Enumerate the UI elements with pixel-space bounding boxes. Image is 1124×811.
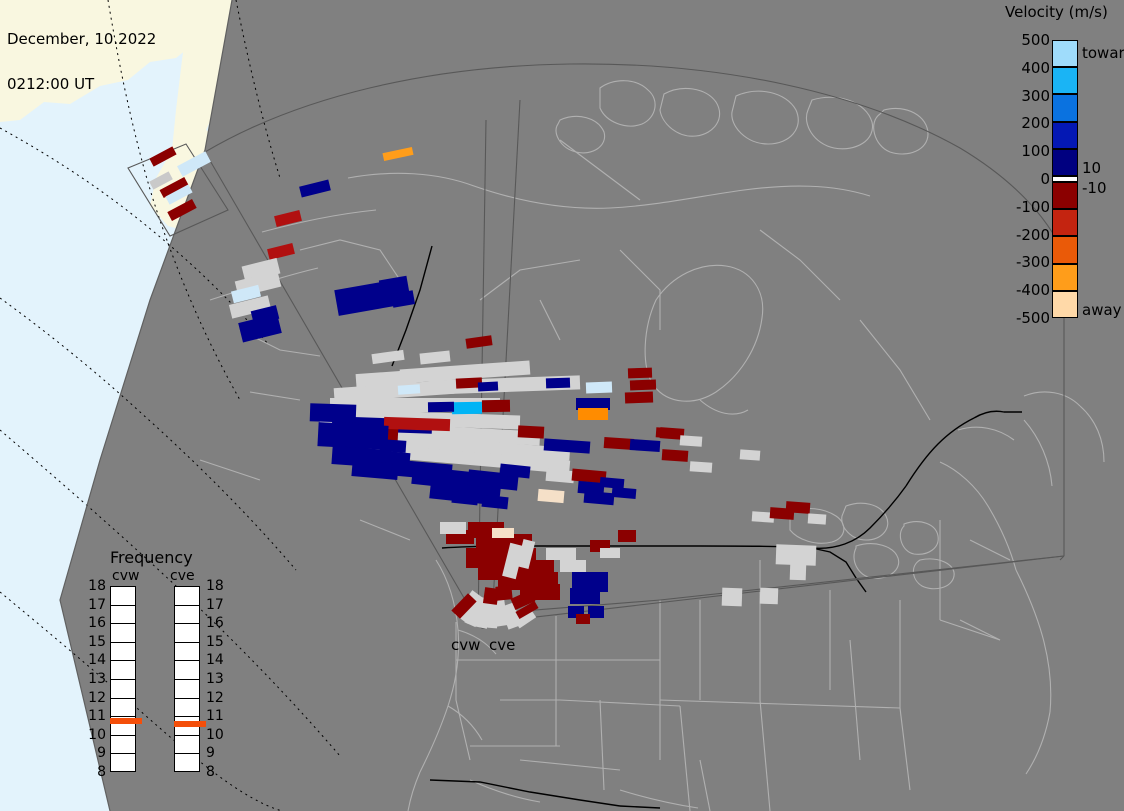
frequency-scale-label: 10 <box>206 728 224 742</box>
frequency-marker-cvw <box>110 718 142 724</box>
colorbar-positive-threshold: 10 <box>1082 161 1101 176</box>
velocity-cell <box>612 487 637 499</box>
frequency-scale-cell <box>175 643 199 662</box>
colorbar-tick-label: 100 <box>1002 144 1050 159</box>
frequency-scale-label: 12 <box>206 691 224 705</box>
velocity-cell <box>238 313 282 342</box>
velocity-cell <box>540 457 567 471</box>
velocity-cell <box>760 588 779 605</box>
colorbar-tick-label: 0 <box>1002 172 1050 187</box>
frequency-scale-cell <box>175 699 199 718</box>
velocity-cell <box>790 562 807 581</box>
velocity-cell <box>384 417 450 431</box>
velocity-cell <box>317 422 388 450</box>
frequency-scale-label: 13 <box>206 672 224 686</box>
colorbar-tick-label: -300 <box>1002 255 1050 270</box>
frequency-marker-cve <box>174 721 206 727</box>
velocity-cell <box>808 513 827 524</box>
frequency-scale-label: 18 <box>206 579 224 593</box>
velocity-cell <box>546 548 576 560</box>
velocity-cell <box>465 335 492 349</box>
velocity-cell <box>398 384 421 395</box>
frequency-scale-cell <box>175 624 199 643</box>
velocity-colorbar: Velocity (m/s) 5004003002001000-100-200-… <box>1000 0 1124 330</box>
station-label-cve: cve <box>489 636 515 654</box>
frequency-scale-label: 14 <box>206 653 224 667</box>
frequency-scale-cell <box>111 606 135 625</box>
frequency-scale-label: 17 <box>206 598 224 612</box>
velocity-cell <box>628 368 652 379</box>
velocity-cell <box>495 585 512 601</box>
colorbar-tick-label: -500 <box>1002 311 1050 326</box>
frequency-scale-label: 12 <box>88 691 106 705</box>
frequency-scale-label: 9 <box>88 746 106 760</box>
velocity-cell <box>625 392 653 404</box>
colorbar-tick-labels: 5004003002001000-100-200-300-400-500 <box>1000 0 1050 330</box>
timestamp-date: December, 10.2022 <box>7 32 156 47</box>
velocity-cell <box>482 400 510 412</box>
colorbar-segment <box>1052 94 1078 121</box>
colorbar-tick-label: 300 <box>1002 89 1050 104</box>
velocity-cell <box>578 408 608 420</box>
velocity-cell <box>546 378 570 389</box>
velocity-cell <box>518 425 545 438</box>
frequency-scale-cell <box>111 680 135 699</box>
timestamp-time: 0212:00 UT <box>7 77 156 92</box>
velocity-cell <box>588 606 604 618</box>
velocity-cell <box>492 528 514 538</box>
velocity-cell <box>267 243 295 260</box>
colorbar-segment <box>1052 182 1078 209</box>
velocity-cell <box>546 469 575 483</box>
velocity-cell <box>274 210 302 227</box>
velocity-cell <box>382 147 413 161</box>
colorbar-tick-label: 200 <box>1002 116 1050 131</box>
frequency-scale-label: 15 <box>88 635 106 649</box>
velocity-cell <box>452 402 482 415</box>
frequency-scale-cell <box>111 661 135 680</box>
frequency-scale-label: 16 <box>88 616 106 630</box>
velocity-cell <box>538 489 565 503</box>
superdarn-map-stage: December, 10.2022 0212:00 UT cvw cve Vel… <box>0 0 1124 811</box>
frequency-scale-cell <box>111 643 135 662</box>
timestamp-block: December, 10.2022 0212:00 UT <box>7 2 156 122</box>
velocity-cell <box>560 560 586 572</box>
colorbar-away-label: away <box>1082 303 1122 318</box>
colorbar-segment <box>1052 149 1078 176</box>
colorbar-segment <box>1052 122 1078 149</box>
velocity-cell <box>786 501 811 514</box>
velocity-cell <box>428 402 454 412</box>
velocity-cell <box>630 380 656 391</box>
colorbar-gradient <box>1052 40 1078 318</box>
velocity-cell <box>310 403 357 423</box>
velocity-cell <box>680 435 703 447</box>
frequency-scale-cell <box>111 624 135 643</box>
frequency-column-header-cve: cve <box>170 568 195 584</box>
velocity-cell <box>570 588 600 604</box>
frequency-scale-cell <box>175 587 199 606</box>
frequency-scale-label: 8 <box>206 765 215 779</box>
velocity-cell <box>299 180 331 198</box>
frequency-scale-label: 10 <box>88 728 106 742</box>
frequency-scale-cell <box>111 736 135 755</box>
velocity-cell <box>576 614 590 624</box>
colorbar-toward-label: toward <box>1082 46 1124 61</box>
velocity-cell <box>420 350 451 364</box>
frequency-scale-cell <box>175 754 199 773</box>
colorbar-segment <box>1052 40 1078 67</box>
frequency-column-header-cvw: cvw <box>112 568 139 584</box>
frequency-scale-label: 17 <box>88 598 106 612</box>
velocity-cell <box>662 449 689 462</box>
colorbar-tick-label: 500 <box>1002 33 1050 48</box>
velocity-cell <box>600 548 620 558</box>
velocity-cell <box>618 530 636 542</box>
frequency-scale-label: 14 <box>88 653 106 667</box>
frequency-scale-cell <box>111 699 135 718</box>
frequency-scale-label: 8 <box>88 765 106 779</box>
frequency-legend-title: Frequency <box>110 548 193 567</box>
velocity-cell <box>149 146 176 166</box>
frequency-scale-cell <box>175 661 199 680</box>
frequency-scale-cell <box>111 754 135 773</box>
station-label-cvw: cvw <box>451 636 480 654</box>
velocity-cell <box>600 477 625 489</box>
velocity-cell <box>740 449 761 460</box>
colorbar-segment <box>1052 291 1078 318</box>
velocity-cell <box>481 495 508 510</box>
frequency-scale-label: 11 <box>88 709 106 723</box>
frequency-scale-label: 11 <box>206 709 224 723</box>
velocity-cell <box>371 350 404 364</box>
frequency-scale-label: 16 <box>206 616 224 630</box>
colorbar-tick-label: -400 <box>1002 283 1050 298</box>
colorbar-segment <box>1052 236 1078 263</box>
colorbar-segment <box>1052 209 1078 236</box>
velocity-cell <box>604 437 635 450</box>
frequency-scale-cell <box>175 606 199 625</box>
frequency-scale-cell <box>175 680 199 699</box>
frequency-scale-label: 18 <box>88 579 106 593</box>
colorbar-segment <box>1052 264 1078 291</box>
frequency-legend: Frequency cvw cve 18171615141312111098 1… <box>88 548 238 778</box>
velocity-cell <box>586 382 612 394</box>
frequency-scale-label: 9 <box>206 746 215 760</box>
colorbar-segment <box>1052 67 1078 94</box>
velocity-cell <box>630 439 661 452</box>
colorbar-tick-label: 400 <box>1002 61 1050 76</box>
frequency-scale-label: 15 <box>206 635 224 649</box>
frequency-bar-cve <box>174 586 200 772</box>
colorbar-tick-label: -100 <box>1002 200 1050 215</box>
velocity-cell <box>722 588 743 607</box>
velocity-cell <box>478 381 498 391</box>
velocity-cell <box>440 522 466 534</box>
velocity-cell <box>690 461 713 473</box>
velocity-cell <box>584 491 615 506</box>
frequency-bar-cvw <box>110 586 136 772</box>
frequency-scale-cell <box>175 736 199 755</box>
frequency-scale-label: 13 <box>88 672 106 686</box>
colorbar-negative-threshold: -10 <box>1082 181 1107 196</box>
velocity-cell <box>177 151 211 177</box>
frequency-scale-cell <box>111 587 135 606</box>
velocity-cells-group <box>149 146 826 629</box>
colorbar-tick-label: -200 <box>1002 228 1050 243</box>
